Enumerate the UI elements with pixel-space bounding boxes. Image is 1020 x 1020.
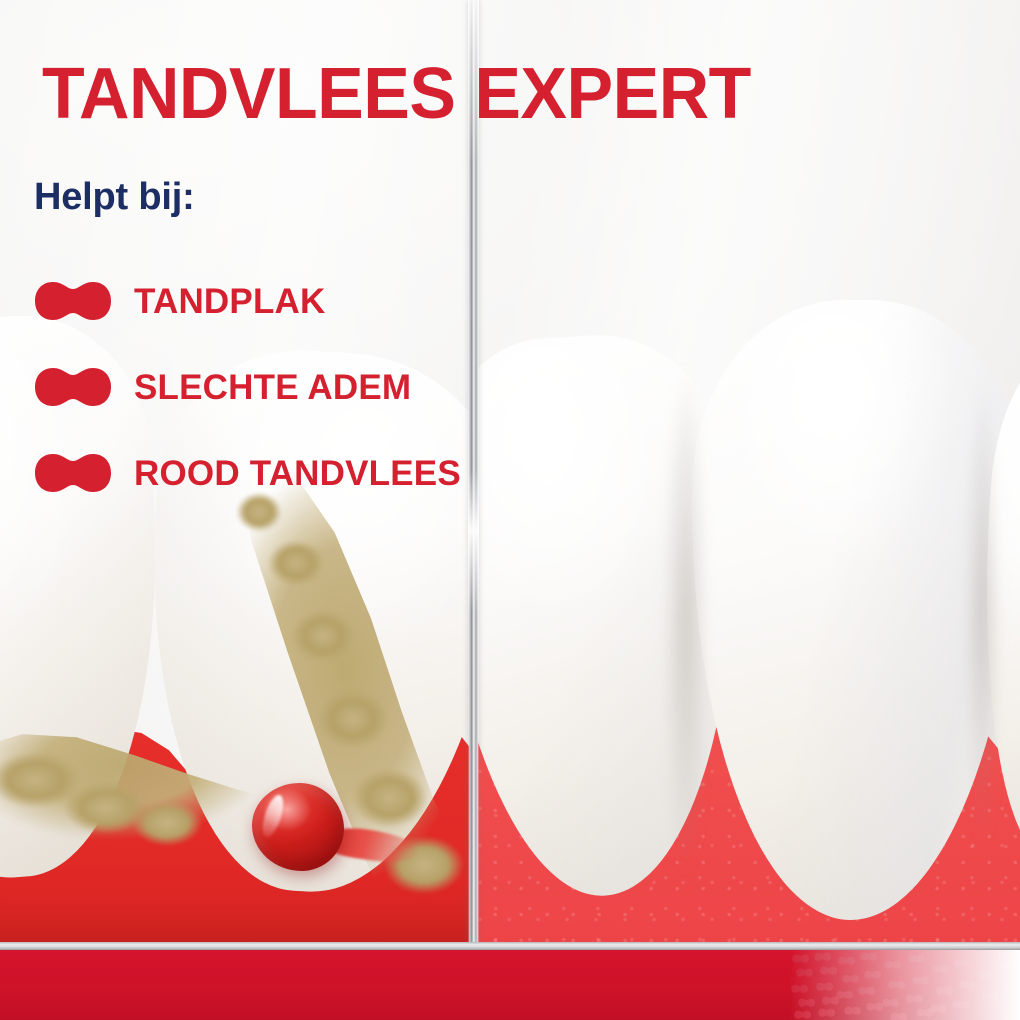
plaque-blob xyxy=(318,690,388,748)
plaque-blob xyxy=(352,768,428,828)
ad-creative-root: TANDVLEES EXPERT Helpt bij: TANDPLAK SLE… xyxy=(0,0,1020,1020)
horizontal-silver-divider xyxy=(0,942,1020,950)
healthy-teeth-panel xyxy=(478,0,1020,1020)
plaque-blob xyxy=(132,800,202,846)
plaque-blob xyxy=(268,540,324,586)
benefit-label: ROOD TANDVLEES xyxy=(134,456,461,491)
benefit-item-rood-tandvlees: ROOD TANDVLEES xyxy=(34,430,504,516)
page-title: TANDVLEES EXPERT xyxy=(42,58,751,130)
benefit-label: TANDPLAK xyxy=(134,284,326,319)
benefit-label: SLECHTE ADEM xyxy=(134,370,411,405)
benefit-item-slechte-adem: SLECHTE ADEM xyxy=(34,344,504,430)
peanut-bullet-icon xyxy=(34,280,112,322)
benefits-list: TANDPLAK SLECHTE ADEM ROOD TANDVLEES xyxy=(34,258,504,516)
blood-droplet xyxy=(252,783,344,871)
plaque-blob xyxy=(292,610,354,662)
benefit-item-tandplak: TANDPLAK xyxy=(34,258,504,344)
interdental-shadow xyxy=(664,360,708,880)
peanut-bullet-icon xyxy=(34,366,112,408)
subheading-helps-with: Helpt bij: xyxy=(34,178,195,216)
interdental-shadow xyxy=(966,380,1000,850)
bottom-red-banner xyxy=(0,950,1020,1020)
peanut-bullet-icon xyxy=(34,452,112,494)
banner-white-fade xyxy=(790,950,1020,1020)
